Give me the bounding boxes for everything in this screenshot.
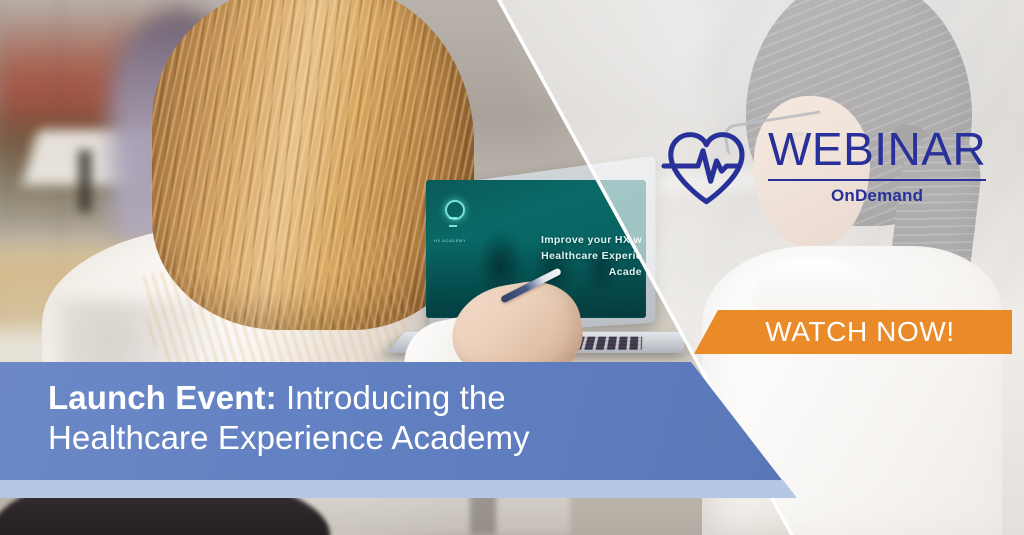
webinar-promo-banner: HX ACADEMY Improve your HX w Healthcare … bbox=[0, 0, 1024, 535]
foreground-woman-dark-hair bbox=[694, 0, 1024, 430]
watch-now-button[interactable]: WATCH NOW! bbox=[694, 310, 1012, 354]
title-emphasis: Launch Event: bbox=[48, 379, 277, 416]
title-accent-strip bbox=[0, 480, 797, 498]
banner-title: Launch Event: Introducing the Healthcare… bbox=[48, 378, 530, 458]
watch-now-label: WATCH NOW! bbox=[751, 318, 955, 346]
slide-headline-line2: Healthcare Experie bbox=[486, 248, 642, 264]
webinar-text-block: WEBINAR OnDemand bbox=[768, 126, 986, 206]
title-line1-rest: Introducing the bbox=[277, 379, 506, 416]
webinar-badge: WEBINAR OnDemand bbox=[660, 126, 986, 206]
lightbulb-icon bbox=[440, 198, 466, 232]
title-banner: Launch Event: Introducing the Healthcare… bbox=[0, 362, 782, 480]
slide-headline-line3: Acade bbox=[486, 264, 642, 280]
webinar-subtitle: OnDemand bbox=[831, 186, 923, 206]
webinar-title: WEBINAR bbox=[768, 126, 986, 172]
slide-headline: Improve your HX w Healthcare Experie Aca… bbox=[486, 232, 642, 280]
slide-headline-line1: Improve your HX w bbox=[486, 232, 642, 248]
heart-pulse-icon bbox=[660, 127, 746, 205]
title-line2: Healthcare Experience Academy bbox=[48, 418, 530, 458]
webinar-divider bbox=[768, 179, 986, 181]
slide-brand: HX ACADEMY bbox=[434, 238, 466, 243]
